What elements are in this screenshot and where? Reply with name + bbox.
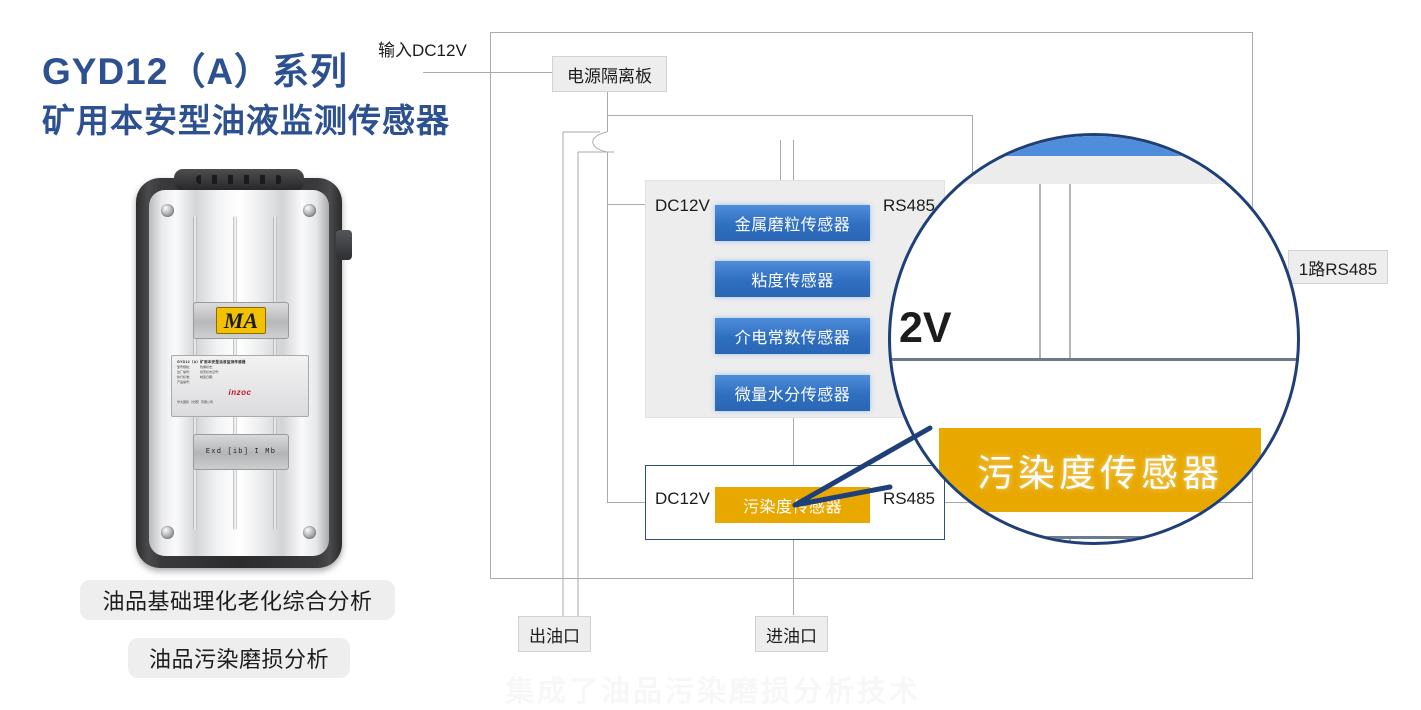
wire-outer-bottom bbox=[490, 578, 1253, 579]
wire-oil-in-vert-upper bbox=[780, 140, 781, 180]
wire-input-dc12v bbox=[423, 72, 552, 73]
label-input-dc12v: 输入DC12V bbox=[378, 36, 467, 61]
sensor-chip-metal-particle[interactable]: 金属磨粒传感器 bbox=[715, 205, 870, 241]
node-power-isolation-board: 电源隔离板 bbox=[552, 56, 667, 92]
wire-oil-mid-vert bbox=[793, 140, 794, 180]
magnified-contamination-sensor: 污染度传感器 bbox=[939, 428, 1261, 512]
magnified-bus-line-top bbox=[891, 358, 1300, 361]
wire-pb-stem bbox=[607, 92, 608, 115]
magnified-bus-line-bottom bbox=[891, 536, 1300, 539]
magnifier-lens: 2V 污染度传感器 bbox=[888, 133, 1300, 545]
magnified-wire bbox=[1069, 184, 1071, 359]
sensor-chip-moisture[interactable]: 微量水分传感器 bbox=[715, 375, 870, 411]
sensor-chip-viscosity[interactable]: 粘度传感器 bbox=[715, 261, 870, 297]
magnified-sensor-blue-band bbox=[951, 133, 1251, 156]
magnified-group-bar bbox=[901, 156, 1300, 184]
wire-outer-left bbox=[490, 32, 491, 578]
wire-dc-to-sensorgroup bbox=[607, 204, 645, 205]
wire-outer-top bbox=[490, 32, 1253, 33]
slide-canvas: GYD12（A）系列 矿用本安型油液监测传感器 MA GYD12（A）矿用本安型… bbox=[0, 0, 1421, 707]
sensor-chip-dielectric[interactable]: 介电常数传感器 bbox=[715, 318, 870, 354]
wire-left-rail-contam bbox=[607, 204, 608, 502]
label-contam-dc12v: DC12V bbox=[655, 489, 710, 509]
wire-oil-in-vert bbox=[793, 540, 794, 615]
label-sensor-group-dc12v: DC12V bbox=[655, 196, 710, 216]
wire-oil-out-vert bbox=[793, 418, 794, 465]
wire-pb-rail bbox=[607, 115, 972, 116]
sensor-chip-contamination[interactable]: 污染度传感器 bbox=[715, 487, 870, 523]
wire-pb-drop-a bbox=[607, 115, 608, 132]
magnified-wire bbox=[1039, 184, 1041, 359]
wire-into-contam-dc bbox=[607, 502, 645, 503]
node-output-rs485: 1路RS485 bbox=[1288, 250, 1388, 284]
node-oil-outlet: 出油口 bbox=[518, 616, 591, 652]
magnified-label-partial-dc12v: 2V bbox=[899, 304, 952, 353]
node-oil-inlet: 进油口 bbox=[755, 616, 828, 652]
wire-pb-drop-b bbox=[607, 152, 608, 204]
magnifier-content: 2V 污染度传感器 bbox=[891, 136, 1297, 542]
